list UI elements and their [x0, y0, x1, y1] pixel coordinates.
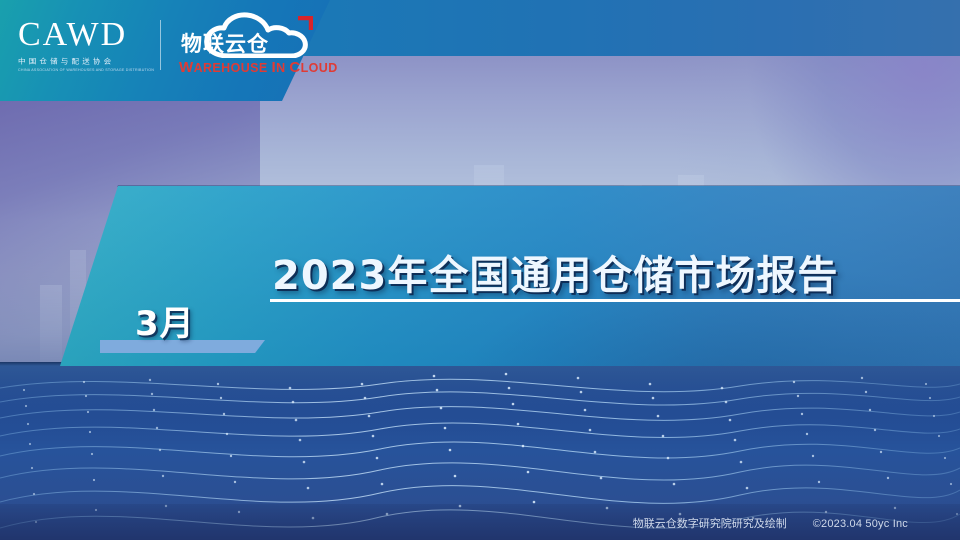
wic-chinese-name: 物联云仓: [181, 28, 269, 58]
wic-english-name: WAREHOUSE IN CLOUD: [179, 59, 338, 76]
cawd-logo[interactable]: CAWD 中国仓储与配送协会 CHINA ASSOCIATION OF WARE…: [18, 18, 154, 72]
cawd-english-name: CHINA ASSOCIATION OF WAREHOUSES AND STOR…: [18, 68, 154, 72]
cawd-chinese-name: 中国仓储与配送协会: [18, 56, 154, 66]
month-label: 3月: [135, 296, 195, 345]
logo-divider: [160, 20, 161, 70]
footer: 物联云仓数字研究院研究及绘制 ©2023.04 50yc Inc: [633, 515, 908, 531]
cawd-wordmark: CAWD: [18, 18, 154, 52]
footer-copyright: ©2023.04 50yc Inc: [813, 518, 908, 530]
title-underline: [270, 299, 960, 302]
warehouse-in-cloud-logo[interactable]: 物联云仓 WAREHOUSE IN CLOUD: [177, 12, 327, 78]
logo-row: CAWD 中国仓储与配送协会 CHINA ASSOCIATION OF WARE…: [18, 12, 327, 78]
page-title: 2023年全国通用仓储市场报告: [272, 243, 838, 301]
presentation-slide: 3月 2023年全国通用仓储市场报告 CAWD 中国仓储与配送协会 CHINA …: [0, 0, 960, 540]
footer-credit: 物联云仓数字研究院研究及绘制: [633, 515, 787, 531]
